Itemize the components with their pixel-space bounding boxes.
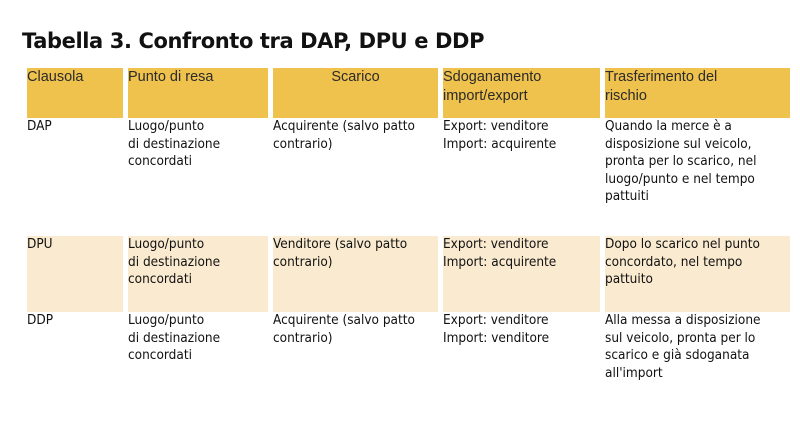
cell-text: DAP: [27, 118, 123, 136]
cell-sdoganamento: Export: venditore Import: acquirente: [443, 236, 600, 312]
column-header-label: Sdoganamento import/export: [443, 68, 600, 106]
cell-clausola: DAP: [27, 118, 123, 236]
cell-text: Export: venditore Import: venditore: [443, 312, 600, 347]
cell-text: Export: venditore Import: acquirente: [443, 118, 600, 153]
cell-text: Luogo/punto di destinazione concordati: [128, 118, 268, 171]
cell-text: Acquirente (salvo patto contrario): [273, 312, 438, 347]
cell-clausola: DDP: [27, 312, 123, 412]
cell-text: Luogo/punto di destinazione concordati: [128, 236, 268, 289]
page-root: Tabella 3. Confronto tra DAP, DPU e DDP …: [0, 0, 800, 435]
cell-text: DDP: [27, 312, 123, 330]
cell-trasferimento-rischio: Alla messa a disposizione sul veicolo, p…: [605, 312, 790, 412]
cell-punto-di-resa: Luogo/punto di destinazione concordati: [128, 118, 268, 236]
cell-text: Alla messa a disposizione sul veicolo, p…: [605, 312, 790, 382]
page-title: Tabella 3. Confronto tra DAP, DPU e DDP: [22, 31, 484, 52]
column-header-clausola: Clausola: [27, 68, 123, 118]
cell-trasferimento-rischio: Dopo lo scarico nel punto concordato, ne…: [605, 236, 790, 312]
cell-scarico: Acquirente (salvo patto contrario): [273, 118, 438, 236]
table-body: DAP Luogo/punto di destinazione concorda…: [27, 118, 790, 412]
table-header-row: Clausola Punto di resa Scarico Sdoganame…: [27, 68, 790, 118]
cell-sdoganamento: Export: venditore Import: acquirente: [443, 118, 600, 236]
column-header-sdoganamento: Sdoganamento import/export: [443, 68, 600, 118]
cell-text: Acquirente (salvo patto contrario): [273, 118, 438, 153]
table-row: DAP Luogo/punto di destinazione concorda…: [27, 118, 790, 236]
column-header-scarico: Scarico: [273, 68, 438, 118]
comparison-table: Clausola Punto di resa Scarico Sdoganame…: [22, 68, 795, 412]
cell-sdoganamento: Export: venditore Import: venditore: [443, 312, 600, 412]
cell-text: Dopo lo scarico nel punto concordato, ne…: [605, 236, 790, 289]
column-header-label: Trasferimento del rischio: [605, 68, 790, 106]
cell-text: Luogo/punto di destinazione concordati: [128, 312, 268, 365]
column-header-label: Scarico: [273, 68, 438, 87]
cell-text: Venditore (salvo patto contrario): [273, 236, 438, 271]
cell-punto-di-resa: Luogo/punto di destinazione concordati: [128, 312, 268, 412]
column-header-label: Punto di resa: [128, 68, 268, 87]
cell-scarico: Acquirente (salvo patto contrario): [273, 312, 438, 412]
column-header-punto-di-resa: Punto di resa: [128, 68, 268, 118]
column-header-trasferimento-rischio: Trasferimento del rischio: [605, 68, 790, 118]
column-header-label: Clausola: [27, 68, 123, 87]
cell-punto-di-resa: Luogo/punto di destinazione concordati: [128, 236, 268, 312]
cell-clausola: DPU: [27, 236, 123, 312]
table-row: DDP Luogo/punto di destinazione concorda…: [27, 312, 790, 412]
cell-text: Quando la merce è a disposizione sul vei…: [605, 118, 790, 206]
cell-scarico: Venditore (salvo patto contrario): [273, 236, 438, 312]
cell-text: DPU: [27, 236, 123, 254]
table-row: DPU Luogo/punto di destinazione concorda…: [27, 236, 790, 312]
table-header: Clausola Punto di resa Scarico Sdoganame…: [27, 68, 790, 118]
cell-text: Export: venditore Import: acquirente: [443, 236, 600, 271]
cell-trasferimento-rischio: Quando la merce è a disposizione sul vei…: [605, 118, 790, 236]
